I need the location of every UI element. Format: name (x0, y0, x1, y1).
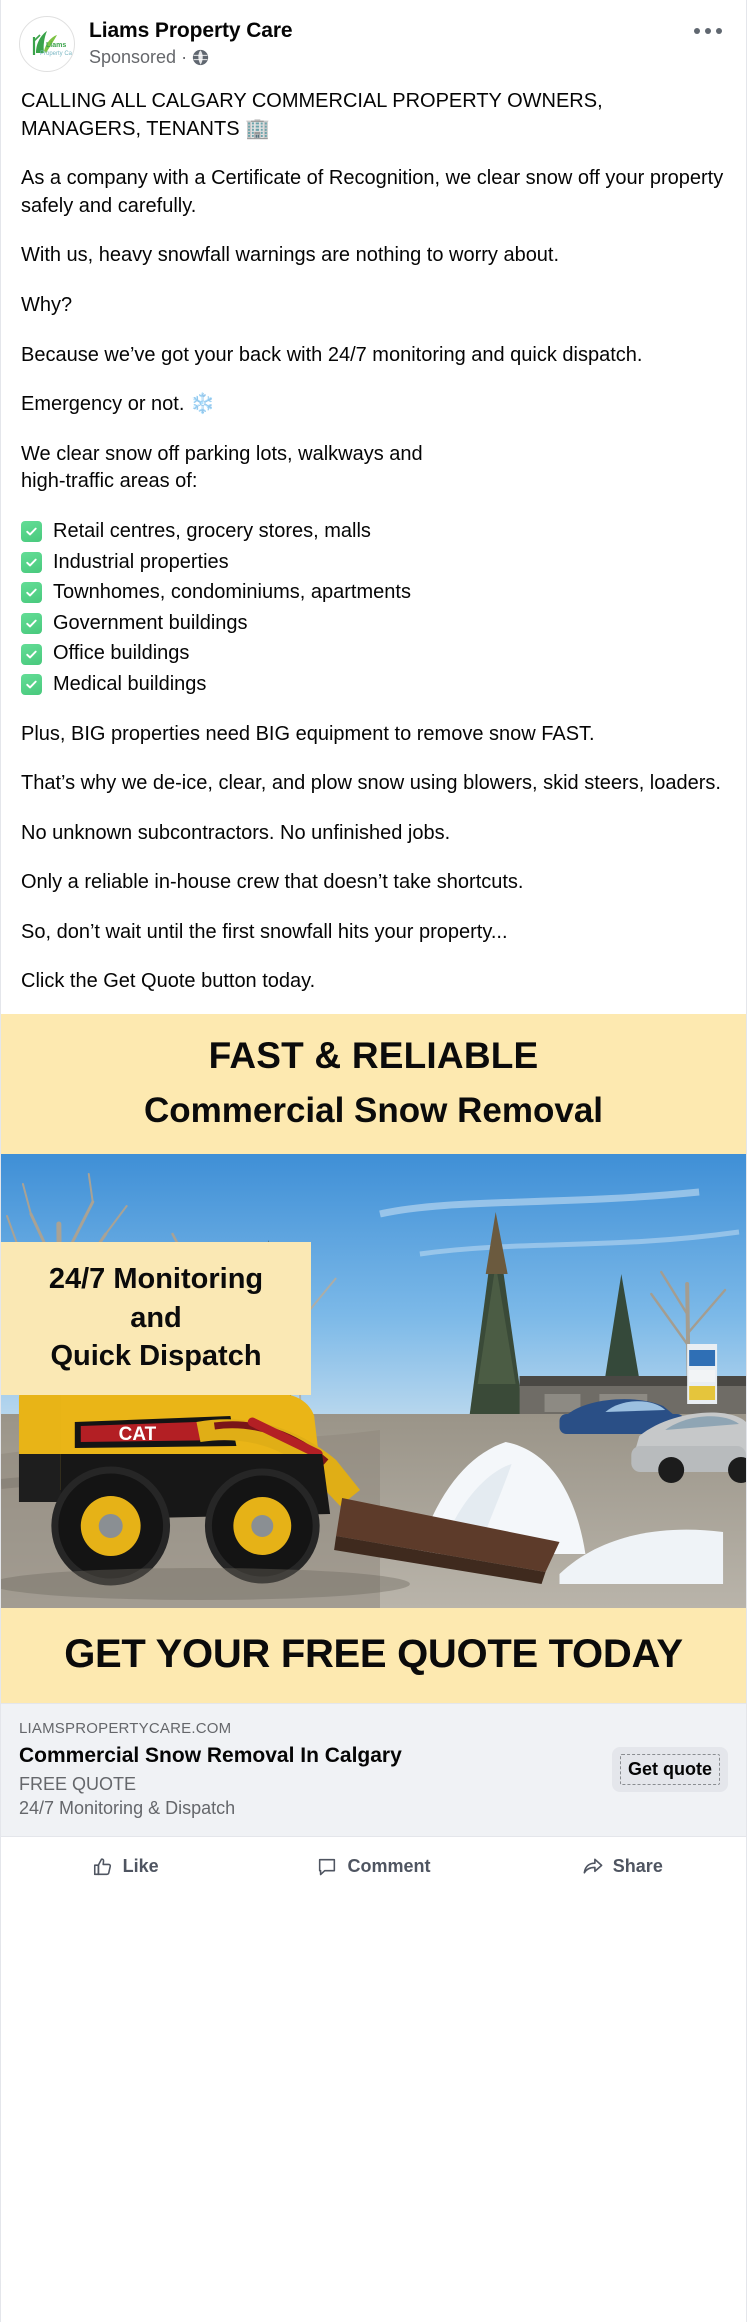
liams-property-care-logo: Liams Property Care (22, 19, 72, 69)
post-body: CALLING ALL CALGARY COMMERCIAL PROPERTY … (1, 80, 746, 996)
check-icon (21, 521, 42, 542)
svg-text:Liams: Liams (46, 42, 66, 49)
link-description: 24/7 Monitoring & Dispatch (19, 1796, 402, 1820)
dot (694, 28, 700, 34)
check-icon (21, 582, 42, 603)
list-item-label: Industrial properties (53, 549, 229, 577)
check-icon (21, 552, 42, 573)
overlay-line-1: 24/7 Monitoring (17, 1260, 295, 1298)
dot (716, 28, 722, 34)
list-item-label: Office buildings (53, 640, 189, 668)
creative-photo[interactable]: CAT (1, 1154, 746, 1608)
list-item: Government buildings (21, 610, 726, 638)
post-meta: Sponsored · (89, 47, 293, 68)
avatar[interactable]: Liams Property Care (19, 16, 75, 72)
post-header: Liams Property Care Liams Property Care … (1, 0, 746, 80)
list-item-label: Townhomes, condominiums, apartments (53, 579, 411, 607)
link-title[interactable]: Commercial Snow Removal In Calgary (19, 1742, 402, 1770)
dot (705, 28, 711, 34)
post-paragraph: That’s why we de-ice, clear, and plow sn… (21, 770, 726, 798)
post-paragraph: Click the Get Quote button today. (21, 968, 726, 996)
page-name[interactable]: Liams Property Care (89, 18, 293, 43)
ad-creative[interactable]: FAST & RELIABLE Commercial Snow Removal (1, 1014, 746, 1703)
link-preview-card[interactable]: LIAMSPROPERTYCARE.COM Commercial Snow Re… (1, 1703, 746, 1836)
meta-separator: · (181, 47, 187, 68)
like-button[interactable]: Like (1, 1837, 249, 1896)
check-icon (21, 644, 42, 665)
post-paragraph: Only a reliable in-house crew that doesn… (21, 869, 726, 897)
share-label: Share (613, 1856, 663, 1877)
list-item-label: Retail centres, grocery stores, malls (53, 518, 371, 546)
share-arrow-icon (581, 1855, 604, 1878)
share-button[interactable]: Share (498, 1837, 746, 1896)
link-subtitle: FREE QUOTE (19, 1772, 402, 1796)
creative-headline-2: Commercial Snow Removal (11, 1090, 736, 1132)
list-item: Retail centres, grocery stores, malls (21, 518, 726, 546)
post-paragraph: Plus, BIG properties need BIG equipment … (21, 721, 726, 749)
list-item: Industrial properties (21, 549, 726, 577)
creative-cta-text: GET YOUR FREE QUOTE TODAY (64, 1632, 683, 1676)
post-paragraph: With us, heavy snowfall warnings are not… (21, 242, 726, 270)
link-info: LIAMSPROPERTYCARE.COM Commercial Snow Re… (19, 1718, 402, 1820)
check-icon (21, 674, 42, 695)
photo-overlay-box: 24/7 Monitoring and Quick Dispatch (1, 1242, 311, 1395)
post-paragraph: Why? (21, 292, 726, 320)
more-options-icon[interactable] (688, 22, 728, 40)
comment-bubble-icon (316, 1856, 338, 1878)
list-item: Office buildings (21, 640, 726, 668)
comment-label: Comment (347, 1856, 430, 1877)
creative-headline-1: FAST & RELIABLE (11, 1034, 736, 1078)
check-icon (21, 613, 42, 634)
thumbs-up-icon (92, 1856, 114, 1878)
creative-bottom-banner: GET YOUR FREE QUOTE TODAY (1, 1608, 746, 1703)
globe-icon (192, 49, 209, 66)
overlay-line-3: Quick Dispatch (17, 1337, 295, 1375)
post-paragraph: No unknown subcontractors. No unfinished… (21, 820, 726, 848)
list-item-label: Government buildings (53, 610, 248, 638)
post-paragraph: As a company with a Certificate of Recog… (21, 165, 726, 220)
svg-text:Property Care: Property Care (40, 51, 72, 57)
post-paragraph: Because we’ve got your back with 24/7 mo… (21, 342, 726, 370)
like-label: Like (123, 1856, 159, 1877)
post-paragraph: So, don’t wait until the first snowfall … (21, 919, 726, 947)
creative-top-banner: FAST & RELIABLE Commercial Snow Removal (1, 1014, 746, 1154)
link-domain: LIAMSPROPERTYCARE.COM (19, 1718, 402, 1739)
overlay-line-2: and (17, 1299, 295, 1337)
post-paragraph: We clear snow off parking lots, walkways… (21, 441, 726, 496)
sponsored-label[interactable]: Sponsored (89, 47, 176, 68)
list-item-label: Medical buildings (53, 671, 206, 699)
post-action-bar: Like Comment Share (1, 1836, 746, 1896)
comment-button[interactable]: Comment (249, 1837, 497, 1896)
get-quote-button[interactable]: Get quote (612, 1747, 728, 1792)
services-checklist: Retail centres, grocery stores, malls In… (21, 518, 726, 699)
post-paragraph: Emergency or not. ❄️ (21, 391, 726, 419)
list-item: Townhomes, condominiums, apartments (21, 579, 726, 607)
post-paragraph: CALLING ALL CALGARY COMMERCIAL PROPERTY … (21, 88, 726, 143)
sponsored-post: Liams Property Care Liams Property Care … (0, 0, 747, 2322)
header-text-block: Liams Property Care Sponsored · (89, 16, 293, 68)
list-item: Medical buildings (21, 671, 726, 699)
svg-text:CAT: CAT (119, 1424, 157, 1445)
